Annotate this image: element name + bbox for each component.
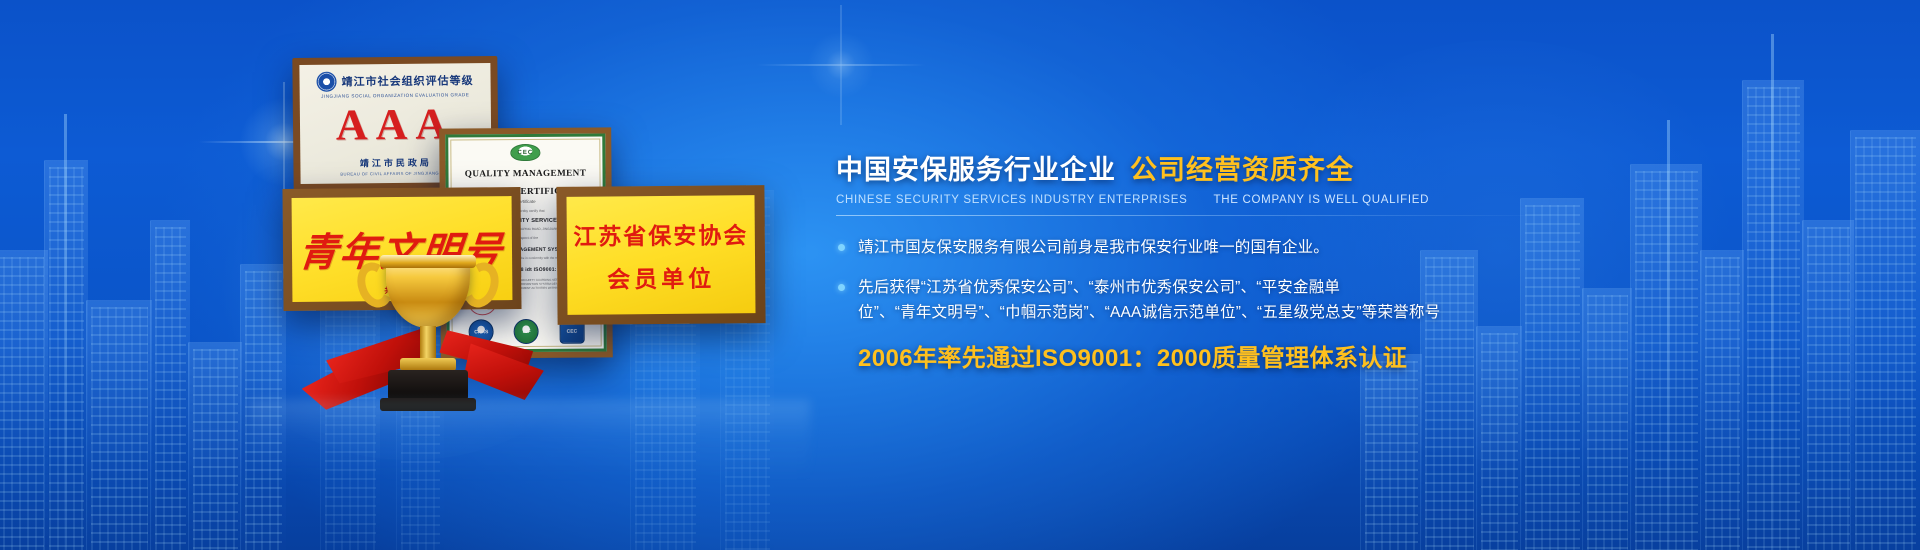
building-silhouette: [1360, 354, 1422, 550]
bullet-list: 靖江市国友保安服务有限公司前身是我市保安行业唯一的国有企业。 先后获得“江苏省优…: [836, 235, 1846, 325]
trophy-rim: [380, 255, 476, 268]
banner-copy-block: 中国安保服务行业企业 公司经营资质齐全 CHINESE SECURITY SER…: [836, 148, 1846, 373]
headline-primary: 中国安保服务行业企业: [836, 148, 1116, 187]
certificate-title-line1: QUALITY MANAGEMENT: [465, 167, 587, 180]
plaque-association-face: 江苏省保安协会 会员单位: [566, 195, 755, 315]
subtitle-en-secondary: THE COMPANY IS WELL QUALIFIED: [1214, 194, 1430, 206]
plaque-aaa-grade: AAA: [336, 102, 456, 147]
bullet-2-line-1: 先后获得“江苏省优秀保安公司”、“泰州市优秀保安公司”、“平安金融单: [858, 279, 1340, 296]
bullet-dot-icon: [838, 244, 845, 251]
building-spire: [64, 114, 67, 550]
trophy-base-bottom: [380, 398, 476, 411]
trophy-base-mid: [388, 370, 468, 400]
building-silhouette: [0, 250, 48, 550]
building-silhouette: [86, 300, 152, 550]
list-item: 靖江市国友保安服务有限公司前身是我市保安行业唯一的国有企业。: [836, 235, 1846, 260]
iaf-badge-icon: IAF: [514, 319, 539, 344]
bullet-dot-icon: [838, 284, 845, 291]
headline-subtitle: CHINESE SECURITY SERVICES INDUSTRY ENTER…: [836, 194, 1846, 206]
plaque-association-line1: 江苏省保安协会: [573, 216, 748, 252]
building-silhouette: [150, 220, 190, 550]
plaque-aaa-title-en: JINGJIANG SOCIAL ORGANIZATION EVALUATION…: [321, 92, 469, 99]
iso-certification-highlight: 2006年率先通过ISO9001：2000质量管理体系认证: [836, 338, 1846, 373]
floor-reflection: [250, 400, 810, 480]
plaque-aaa-title: 靖江市社会组织评估等级: [341, 72, 473, 89]
building-silhouette: [240, 264, 286, 550]
building-silhouette: [44, 160, 88, 550]
building-silhouette: [188, 342, 242, 550]
subtitle-en-primary: CHINESE SECURITY SERVICES INDUSTRY ENTER…: [836, 194, 1188, 206]
plaque-aaa-issuer: 靖江市民政局: [360, 156, 432, 170]
building-silhouette: [1850, 130, 1920, 550]
plaque-security-association: 江苏省保安协会 会员单位: [556, 185, 765, 325]
plaque-aaa-issuer-en: BUREAU OF CIVIL AFFAIRS OF JINGJIANG CIT…: [340, 170, 451, 176]
plaque-aaa-header: 靖江市社会组织评估等级: [316, 70, 473, 92]
civil-affairs-seal-icon: [316, 72, 336, 92]
divider-rule: [836, 215, 1556, 216]
trophy-cup: [386, 260, 470, 328]
headline-secondary: 公司经营资质齐全: [1130, 148, 1354, 187]
bullet-2-line-2: 位”、“青年文明号”、“巾帼示范岗”、“AAA诚信示范单位”、“五星级党总支”等…: [858, 300, 1846, 325]
plaque-association-line2: 会员单位: [607, 259, 715, 294]
lens-flare-sparkle: [806, 30, 876, 100]
promotional-banner: 靖江市社会组织评估等级 JINGJIANG SOCIAL ORGANIZATIO…: [0, 0, 1920, 550]
list-item: 先后获得“江苏省优秀保安公司”、“泰州市优秀保安公司”、“平安金融单 位”、“青…: [836, 275, 1846, 325]
headline: 中国安保服务行业企业 公司经营资质齐全: [836, 148, 1846, 187]
trophy-stem: [420, 326, 436, 360]
skyline-left: [0, 70, 300, 550]
cec-seal-icon: CEC: [510, 144, 540, 161]
gold-trophy: [352, 242, 504, 422]
bullet-1-line-1: 靖江市国友保安服务有限公司前身是我市保安行业唯一的国有企业。: [858, 239, 1329, 256]
